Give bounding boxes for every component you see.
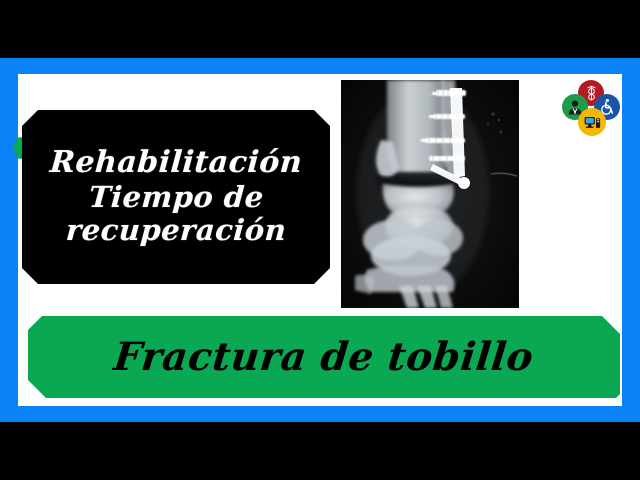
- subtitle-banner: Fractura de tobillo: [28, 316, 620, 398]
- title-line-1: Rehabilitación: [49, 148, 303, 179]
- title-line-2: Tiempo de: [88, 183, 265, 213]
- computer-glyph: [583, 113, 602, 132]
- letterbox-bottom: [0, 420, 640, 480]
- title-line-3: recuperación: [65, 216, 287, 246]
- channel-logo[interactable]: [562, 80, 620, 138]
- xray-illustration: [341, 80, 519, 308]
- subtitle-text: Fractura de tobillo: [112, 334, 536, 380]
- video-frame: Rehabilitación Tiempo de recuperación: [0, 0, 640, 480]
- letterbox-top: [0, 0, 640, 60]
- ankle-xray-image: [341, 80, 519, 308]
- computer-icon: [578, 108, 606, 136]
- title-banner: Rehabilitación Tiempo de recuperación: [22, 110, 330, 284]
